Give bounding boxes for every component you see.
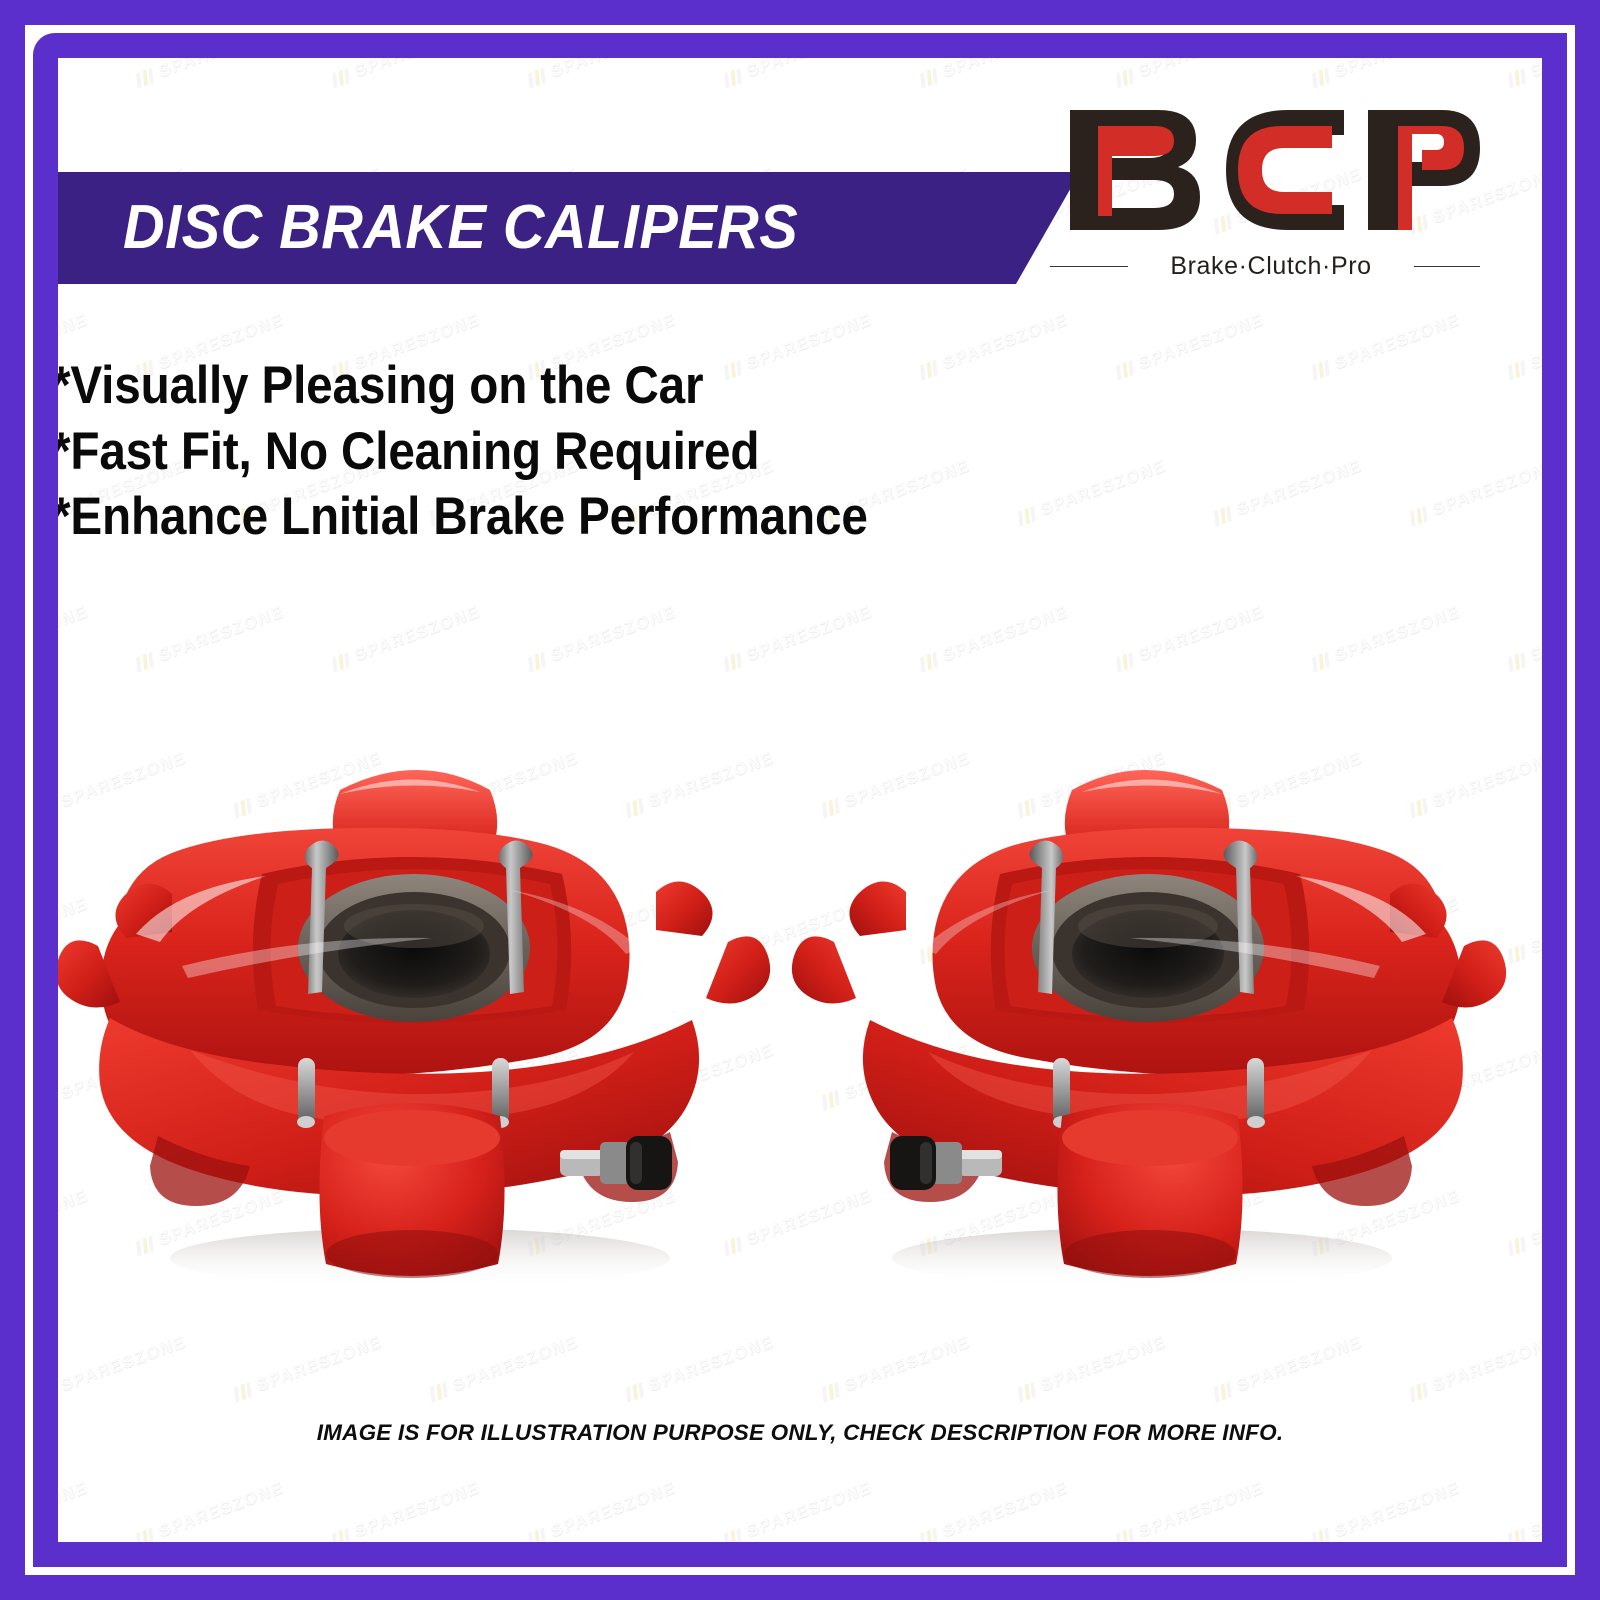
watermark-label: SPARESZONE [58,1332,189,1396]
spareszone-logo-icon [1212,506,1233,526]
watermark-tile: SPARESZONE [721,602,874,674]
spareszone-logo-icon [330,1528,351,1542]
watermark-tile: SPARESZONE [231,1332,384,1404]
watermark-label: SPARESZONE [1136,310,1267,374]
spareszone-logo-icon [1310,652,1331,672]
watermark-tile: SPARESZONE [329,58,482,90]
spareszone-logo-icon [1506,360,1527,380]
watermark-tile: SPARESZONE [1309,310,1462,382]
watermark-tile: SPARESZONE [917,1478,1070,1542]
watermark-label: SPARESZONE [1528,58,1542,82]
spareszone-logo-icon [1408,506,1429,526]
spareszone-logo-icon [1506,68,1527,88]
watermark-label: SPARESZONE [58,602,91,666]
watermark-label: SPARESZONE [352,58,483,82]
watermark-tile: SPARESZONE [1407,456,1542,528]
watermark-label: SPARESZONE [1332,602,1463,666]
mounting-lug [656,881,713,936]
watermark-tile: SPARESZONE [58,602,91,674]
watermark-tile: SPARESZONE [58,58,91,90]
spareszone-logo-icon [1016,1382,1037,1402]
mounting-lug [792,936,856,1003]
watermark-label: SPARESZONE [1528,1478,1542,1542]
spareszone-logo-icon [1114,1528,1135,1542]
piston-boss-shade [326,1230,498,1278]
watermark-label: SPARESZONE [156,1478,287,1542]
mounting-lug [706,936,770,1003]
watermark-tile: SPARESZONE [525,58,678,90]
watermark-label: SPARESZONE [1528,602,1542,666]
watermark-label: SPARESZONE [548,1478,679,1542]
watermark-label: SPARESZONE [940,58,1071,82]
retaining-pin-short [1247,1058,1265,1128]
spareszone-logo-icon [428,1382,449,1402]
watermark-tile: SPARESZONE [623,1332,776,1404]
spareszone-logo-icon [820,1382,841,1402]
watermark-label: SPARESZONE [1332,58,1463,82]
feature-list: *Visually Pleasing on the Car *Fast Fit,… [58,353,1152,550]
watermark-tile: SPARESZONE [1505,310,1542,382]
spareszone-logo-icon [722,1528,743,1542]
watermark-tile: SPARESZONE [427,1332,580,1404]
brake-caliper-left [58,698,782,1318]
watermark-tile: SPARESZONE [917,58,1070,90]
watermark-tile: SPARESZONE [1309,1478,1462,1542]
bcp-logo: Brake·Clutch·Pro [1050,92,1480,302]
watermark-tile: SPARESZONE [819,1332,972,1404]
watermark-tile: SPARESZONE [721,58,874,90]
spareszone-logo-icon [1310,68,1331,88]
watermark-tile: SPARESZONE [1309,602,1462,674]
watermark-tile: SPARESZONE [329,602,482,674]
watermark-tile: SPARESZONE [1505,1478,1542,1542]
spareszone-logo-icon [918,1528,939,1542]
spareszone-logo-icon [1506,1528,1527,1542]
mounting-lug [849,881,906,936]
watermark-label: SPARESZONE [646,1332,777,1396]
watermark-tile: SPARESZONE [1505,58,1542,90]
feature-item: *Fast Fit, No Cleaning Required [58,419,1042,485]
watermark-label: SPARESZONE [1136,1478,1267,1542]
watermark-label: SPARESZONE [58,1478,91,1542]
watermark-tile: SPARESZONE [1309,58,1462,90]
watermark-tile: SPARESZONE [133,1478,286,1542]
watermark-label: SPARESZONE [744,58,875,82]
watermark-label: SPARESZONE [744,602,875,666]
tagline-rule-right [1414,266,1480,267]
spareszone-logo-icon [722,652,743,672]
watermark-label: SPARESZONE [842,1332,973,1396]
piston-boss-shade [1064,1230,1236,1278]
watermark-tile: SPARESZONE [1015,1332,1168,1404]
watermark-label: SPARESZONE [1430,1332,1542,1396]
watermark-tile: SPARESZONE [1407,1332,1542,1404]
watermark-label: SPARESZONE [1332,310,1463,374]
piston-boss-face [324,1110,500,1166]
spareszone-logo-icon [1114,68,1135,88]
watermark-tile: SPARESZONE [1113,602,1266,674]
spareszone-logo-icon [722,68,743,88]
watermark-tile: SPARESZONE [1211,456,1364,528]
page-title: DISC BRAKE CALIPERS [123,197,798,259]
watermark-label: SPARESZONE [940,602,1071,666]
watermark-label: SPARESZONE [1136,58,1267,82]
watermark-label: SPARESZONE [1332,1478,1463,1542]
watermark-label: SPARESZONE [1234,1332,1365,1396]
feature-item: *Visually Pleasing on the Car [58,353,1042,419]
spareszone-logo-icon [134,68,155,88]
watermark-tile: SPARESZONE [1505,602,1542,674]
disclaimer-text: IMAGE IS FOR ILLUSTRATION PURPOSE ONLY, … [58,1420,1542,1446]
feature-item: *Enhance Lnitial Brake Performance [58,484,1042,550]
watermark-label: SPARESZONE [156,58,287,82]
watermark-tile: SPARESZONE [329,1478,482,1542]
spareszone-logo-icon [918,68,939,88]
watermark-label: SPARESZONE [1038,1332,1169,1396]
watermark-label: SPARESZONE [548,58,679,82]
watermark-tile: SPARESZONE [1211,1332,1364,1404]
watermark-label: SPARESZONE [352,1478,483,1542]
watermark-tile: SPARESZONE [917,602,1070,674]
tagline-rule-left [1050,266,1128,267]
brake-caliper-right [780,698,1522,1318]
logo-letter-c-red [1238,126,1332,214]
spareszone-logo-icon [526,1528,547,1542]
spareszone-logo-icon [526,652,547,672]
watermark-tile: SPARESZONE [1113,1478,1266,1542]
watermark-label: SPARESZONE [58,58,91,82]
product-image-canvas: SPARESZONESPARESZONESPARESZONESPARESZONE… [0,0,1600,1600]
watermark-label: SPARESZONE [352,602,483,666]
watermark-label: SPARESZONE [254,1332,385,1396]
watermark-label: SPARESZONE [940,1478,1071,1542]
spareszone-logo-icon [526,68,547,88]
retaining-pin-short [297,1058,315,1128]
title-banner: DISC BRAKE CALIPERS [58,172,1080,284]
watermark-tile: SPARESZONE [721,1478,874,1542]
spareszone-logo-icon [1114,652,1135,672]
spareszone-logo-icon [330,652,351,672]
watermark-label: SPARESZONE [1136,602,1267,666]
watermark-tile: SPARESZONE [525,602,678,674]
spareszone-logo-icon [1506,652,1527,672]
watermark-tile: SPARESZONE [525,1478,678,1542]
watermark-label: SPARESZONE [450,1332,581,1396]
spareszone-logo-icon [624,1382,645,1402]
spareszone-logo-icon [330,68,351,88]
watermark-label: SPARESZONE [156,602,287,666]
watermark-label: SPARESZONE [1528,310,1542,374]
content-plate: SPARESZONESPARESZONESPARESZONESPARESZONE… [58,58,1542,1542]
spareszone-logo-icon [232,1382,253,1402]
piston-boss-face [1062,1110,1238,1166]
spareszone-logo-icon [1310,360,1331,380]
product-photo [58,698,1542,1318]
watermark-tile: SPARESZONE [133,58,286,90]
spareszone-logo-icon [1408,1382,1429,1402]
logo-tagline-row: Brake·Clutch·Pro [1050,252,1480,281]
watermark-label: SPARESZONE [1234,456,1365,520]
watermark-tile: SPARESZONE [133,602,286,674]
spareszone-logo-icon [134,652,155,672]
watermark-label: SPARESZONE [744,1478,875,1542]
watermark-tile: SPARESZONE [58,1478,91,1542]
watermark-label: SPARESZONE [1430,456,1542,520]
watermark-tile: SPARESZONE [58,1332,189,1404]
spareszone-logo-icon [1310,1528,1331,1542]
spareszone-logo-icon [134,1528,155,1542]
spareszone-logo-icon [1212,1382,1233,1402]
watermark-label: SPARESZONE [548,602,679,666]
logo-tagline: Brake·Clutch·Pro [1142,252,1400,281]
watermark-tile: SPARESZONE [1113,58,1266,90]
spareszone-logo-icon [918,652,939,672]
